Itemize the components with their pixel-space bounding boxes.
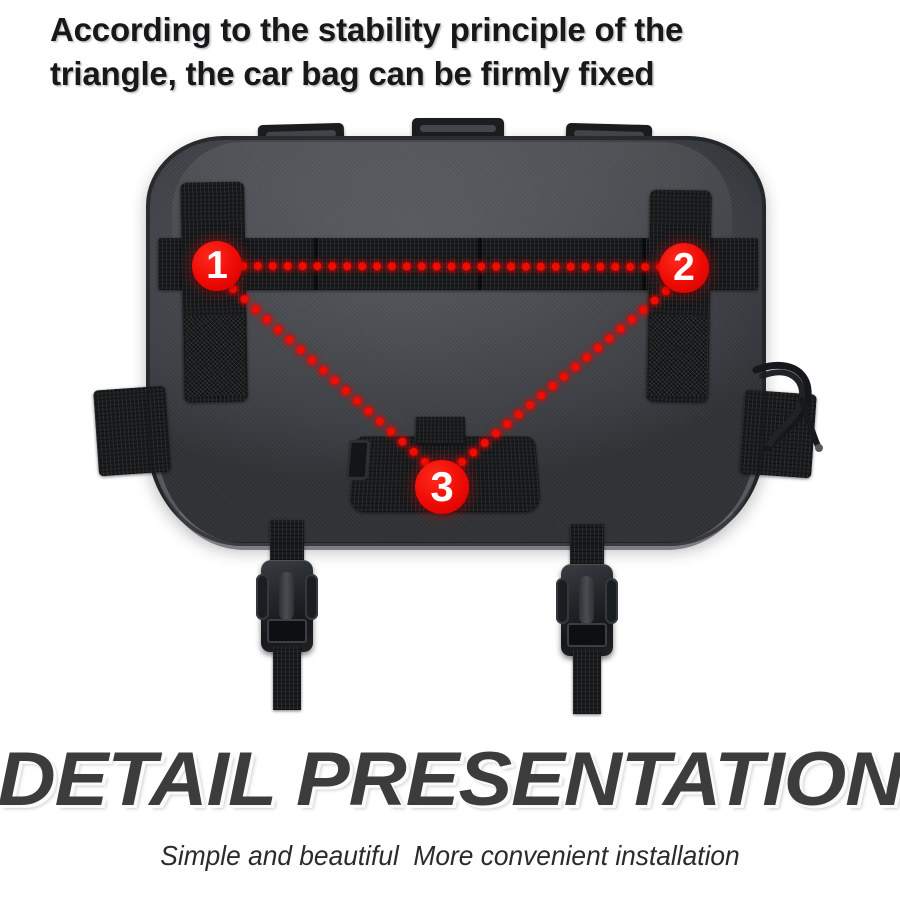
- vertical-velcro-tab-left: [180, 181, 248, 402]
- bottom-strap-keeper: [415, 417, 466, 444]
- footer: DETAIL PRESENTATION Simple and beautiful…: [0, 742, 900, 900]
- marker-2: 2: [659, 243, 709, 293]
- marker-3: 3: [415, 460, 469, 514]
- vertical-velcro-tab-right: [646, 189, 712, 402]
- detail-presentation-title: DETAIL PRESENTATION: [0, 742, 900, 818]
- bottom-strap-adjuster: [345, 440, 370, 480]
- detail-presentation-subtitle: Simple and beautiful More convenient ins…: [27, 840, 873, 872]
- side-release-buckle-left: [270, 520, 304, 710]
- page-title: According to the stability principle of …: [50, 8, 710, 95]
- velcro-patch: [648, 315, 707, 396]
- marker-label: 3: [430, 463, 453, 511]
- marker-label: 1: [206, 244, 228, 288]
- marker-label: 2: [673, 246, 695, 290]
- side-webbing-tab-left: [93, 386, 171, 477]
- buckle-housing: [561, 564, 613, 656]
- product-photo: [0, 108, 900, 728]
- buckle-housing: [261, 560, 313, 652]
- velcro-patch: [184, 315, 245, 396]
- marker-1: 1: [192, 241, 242, 291]
- side-release-buckle-right: [570, 524, 604, 714]
- bungee-cord: [752, 356, 824, 464]
- product-detail-image: According to the stability principle of …: [0, 0, 900, 900]
